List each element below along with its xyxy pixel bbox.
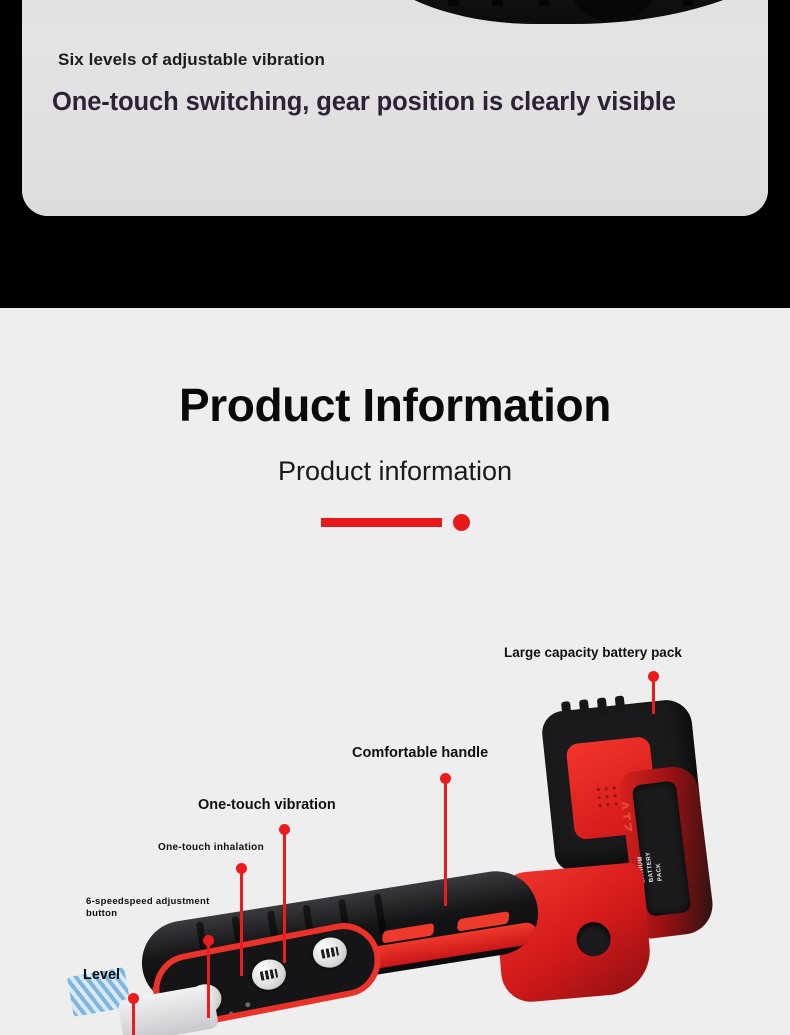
leader-dot-level — [128, 993, 139, 1004]
callout-label-battery: Large capacity battery pack — [504, 645, 682, 662]
leader-dot-vibration — [279, 824, 290, 835]
leader-dot-battery — [648, 671, 659, 682]
feature-card-text: Six levels of adjustable vibration One-t… — [52, 50, 692, 120]
product-callout-diagram: 21V LITHIUM BATTERY PACK — [0, 600, 790, 1035]
leader-dot-inhalation — [236, 863, 247, 874]
product-silhouette-image — [352, 0, 768, 24]
section-title: Product Information — [0, 380, 790, 431]
section-subtitle: Product information — [0, 457, 790, 487]
feature-eyebrow: Six levels of adjustable vibration — [58, 50, 692, 70]
vibration-icon — [260, 969, 278, 981]
feature-card: Six levels of adjustable vibration One-t… — [22, 0, 768, 216]
divider-bar-icon — [321, 518, 442, 527]
top-black-band: Six levels of adjustable vibration One-t… — [0, 0, 790, 308]
divider-dot-icon — [453, 514, 470, 531]
callout-label-level: Level — [83, 966, 120, 984]
callout-label-vibration: One-touch vibration — [198, 796, 336, 814]
leader-line-inhalation — [240, 868, 243, 976]
leader-dot-handle — [440, 773, 451, 784]
leader-line-speed — [207, 940, 210, 1018]
feature-headline: One-touch switching, gear position is cl… — [52, 86, 692, 120]
product-infographic-page: Six levels of adjustable vibration One-t… — [0, 0, 790, 1035]
callout-label-speed: 6-speedspeed adjustment button — [86, 896, 210, 920]
leader-line-handle — [444, 778, 447, 906]
product-information-header: Product Information Product information — [0, 380, 790, 531]
leader-line-vibration — [283, 829, 286, 963]
section-divider — [0, 514, 790, 531]
leader-dot-speed — [203, 935, 214, 946]
inhalation-button[interactable] — [310, 935, 349, 971]
inhalation-icon — [321, 947, 339, 959]
tool-mount-hole — [575, 921, 612, 958]
callout-label-inhalation: One-touch inhalation — [158, 842, 264, 855]
callout-label-handle: Comfortable handle — [352, 744, 488, 762]
